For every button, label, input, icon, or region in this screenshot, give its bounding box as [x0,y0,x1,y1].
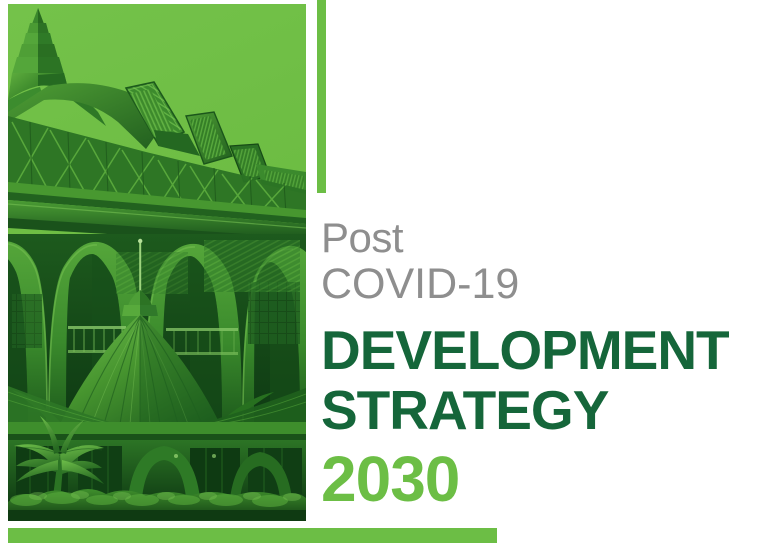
headline-line-strategy: STRATEGY [321,380,741,440]
kicker-line-post: Post [321,214,741,261]
report-cover: Post COVID-19 DEVELOPMENT STRATEGY 2030 [0,0,761,549]
headline-year-2030: 2030 [321,444,741,514]
vertical-accent-bar [317,0,326,193]
cover-photograph [8,4,306,521]
bottom-accent-bar [8,528,497,543]
cover-title-block: Post COVID-19 DEVELOPMENT STRATEGY 2030 [321,214,741,514]
kicker-line-covid19: COVID-19 [321,261,741,308]
duotone-building-illustration [8,4,306,521]
headline-line-development: DEVELOPMENT [321,320,741,380]
